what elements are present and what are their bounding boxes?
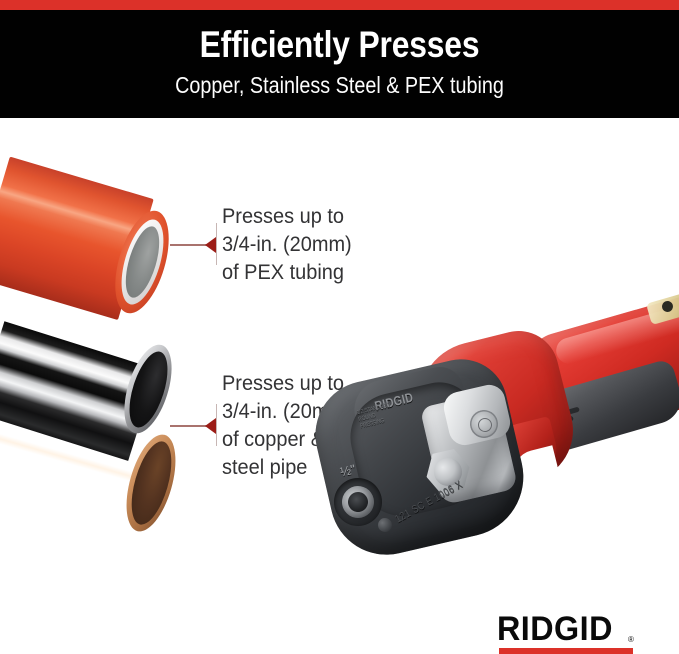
- callout-arrow-icon: [205, 418, 216, 434]
- callout-leader-line: [170, 244, 208, 246]
- callout-arrow-icon: [205, 237, 216, 253]
- callout-pex-line-1: Presses up to: [222, 203, 344, 231]
- pex-tube-image: [0, 148, 180, 298]
- product-feature-image: Efficiently Presses Copper, Stainless St…: [0, 0, 679, 654]
- callout-tick-icon: [216, 223, 217, 265]
- page-subtitle: Copper, Stainless Steel & PEX tubing: [48, 72, 632, 99]
- header-banner: Efficiently Presses Copper, Stainless St…: [0, 0, 679, 118]
- header-accent-stripe: [0, 0, 679, 10]
- ridgid-logo-bar: [499, 648, 633, 654]
- callout-metal-line-4: steel pipe: [222, 454, 307, 482]
- callout-leader-line: [170, 425, 208, 427]
- press-tool-image: RIDGID 1/2 STANDARD ROUND PRESSING ½" 12…: [318, 300, 679, 630]
- ridgid-logo: RIDGID ®: [497, 612, 643, 652]
- ridgid-wordmark: RIDGID: [497, 612, 613, 646]
- callout-pex-line-2: 3/4-in. (20mm): [222, 231, 352, 259]
- callout-tick-icon: [216, 404, 217, 446]
- registered-trademark-icon: ®: [628, 636, 634, 644]
- callout-pex: Presses up to 3/4-in. (20mm) of PEX tubi…: [170, 203, 410, 303]
- callout-pex-line-3: of PEX tubing: [222, 259, 344, 287]
- page-title: Efficiently Presses: [48, 24, 632, 66]
